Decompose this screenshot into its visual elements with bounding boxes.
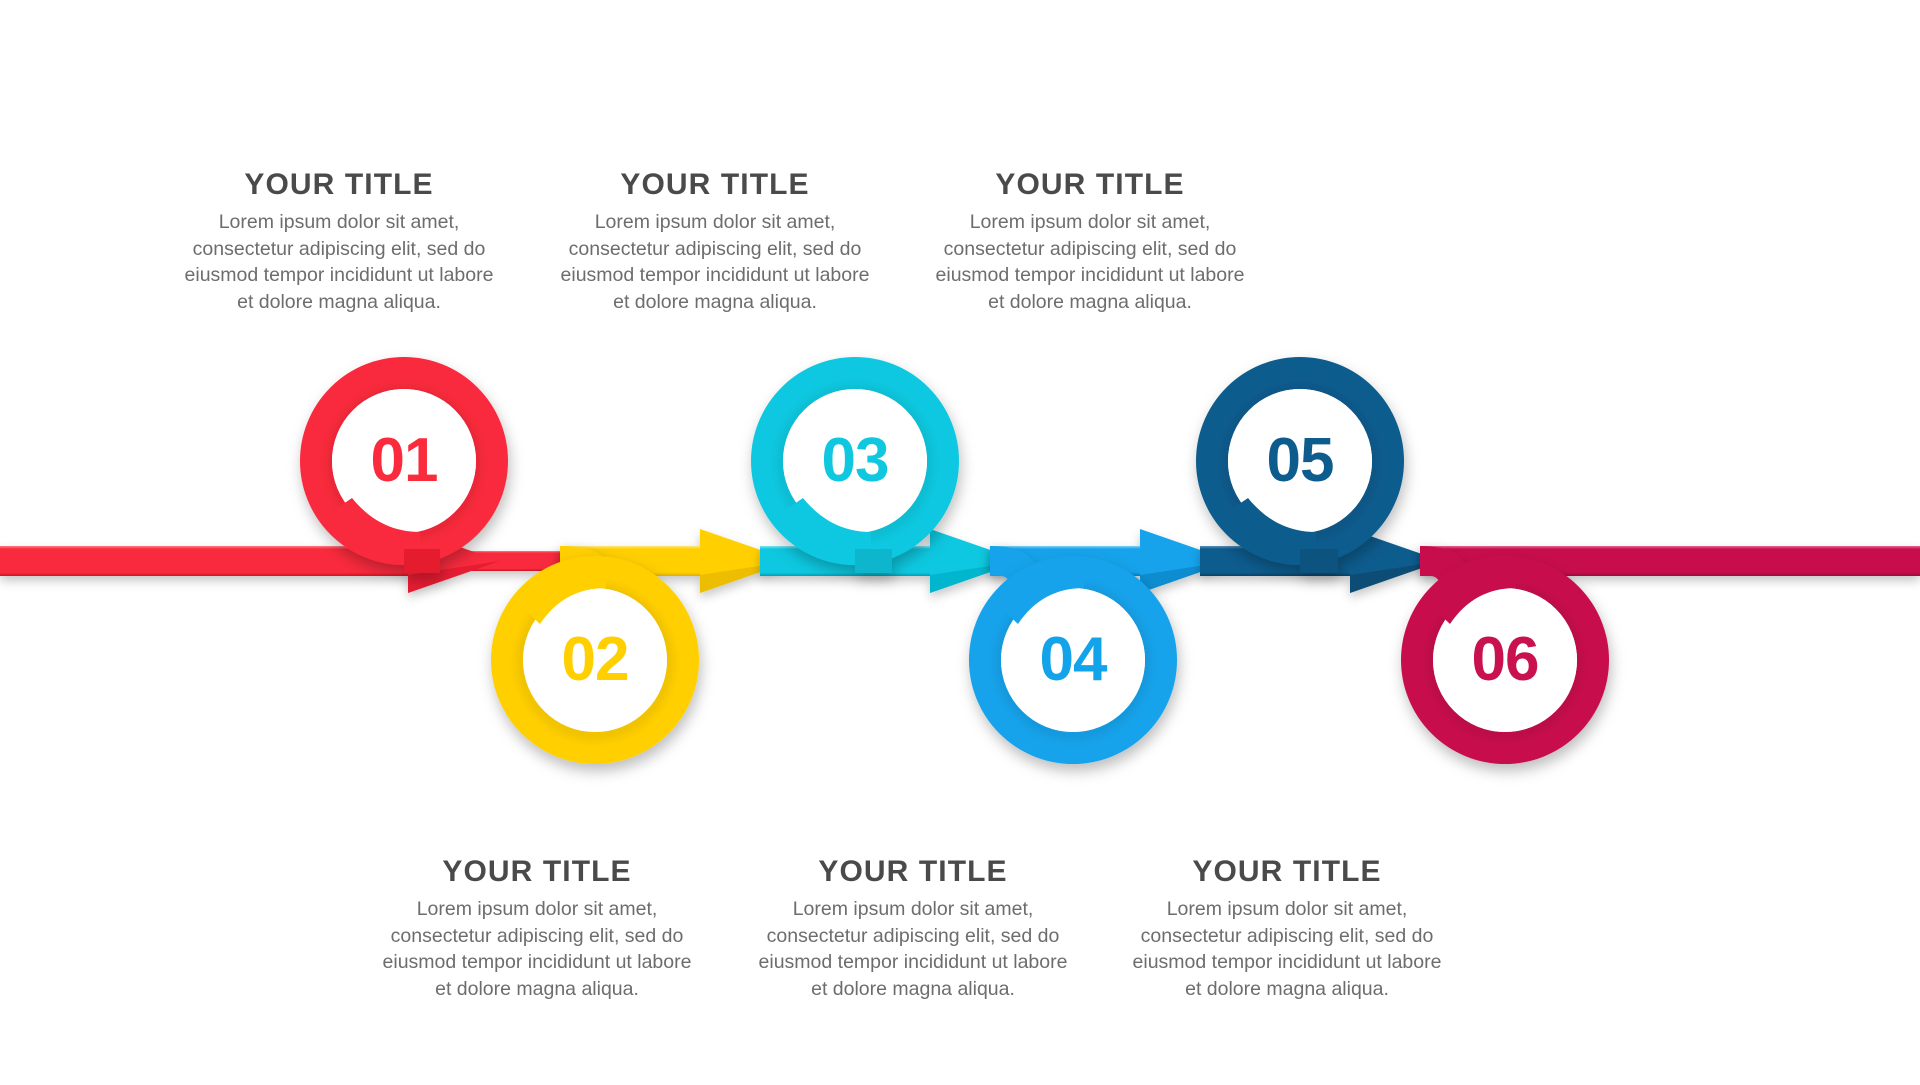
step-body-06: Lorem ipsum dolor sit amet, consectetur … (1122, 896, 1452, 1002)
step-text-block-02: YOUR TITLE Lorem ipsum dolor sit amet, c… (372, 855, 702, 1002)
step-title-03: YOUR TITLE (550, 168, 880, 201)
step-title-06: YOUR TITLE (1122, 855, 1452, 888)
step-text-block-05: YOUR TITLE Lorem ipsum dolor sit amet, c… (925, 168, 1255, 315)
step-number-02: 02 (505, 629, 685, 691)
step-body-03: Lorem ipsum dolor sit amet, consectetur … (550, 209, 880, 315)
infographic-canvas: 01 02 03 04 05 06 YOUR TITLE Lorem ipsum… (0, 0, 1920, 1080)
step-body-05: Lorem ipsum dolor sit amet, consectetur … (925, 209, 1255, 315)
step-title-04: YOUR TITLE (748, 855, 1078, 888)
step-text-block-03: YOUR TITLE Lorem ipsum dolor sit amet, c… (550, 168, 880, 315)
labels-layer: 01 02 03 04 05 06 YOUR TITLE Lorem ipsum… (0, 0, 1920, 1080)
step-body-01: Lorem ipsum dolor sit amet, consectetur … (174, 209, 504, 315)
step-text-block-06: YOUR TITLE Lorem ipsum dolor sit amet, c… (1122, 855, 1452, 1002)
step-number-04: 04 (983, 629, 1163, 691)
step-number-01: 01 (314, 430, 494, 492)
step-body-04: Lorem ipsum dolor sit amet, consectetur … (748, 896, 1078, 1002)
step-text-block-04: YOUR TITLE Lorem ipsum dolor sit amet, c… (748, 855, 1078, 1002)
step-number-03: 03 (765, 430, 945, 492)
step-number-06: 06 (1415, 629, 1595, 691)
step-title-02: YOUR TITLE (372, 855, 702, 888)
step-body-02: Lorem ipsum dolor sit amet, consectetur … (372, 896, 702, 1002)
step-title-01: YOUR TITLE (174, 168, 504, 201)
step-title-05: YOUR TITLE (925, 168, 1255, 201)
step-number-05: 05 (1210, 430, 1390, 492)
step-text-block-01: YOUR TITLE Lorem ipsum dolor sit amet, c… (174, 168, 504, 315)
